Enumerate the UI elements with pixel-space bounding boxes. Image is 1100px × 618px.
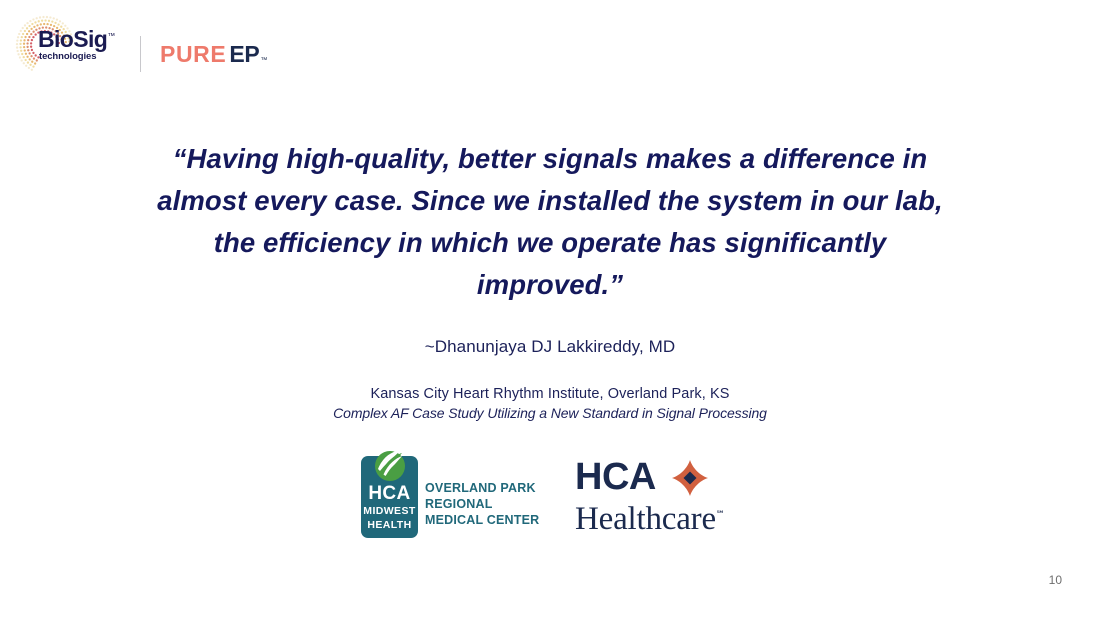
- biosig-name: BioSig™: [38, 28, 130, 51]
- overland-park-name-line: MEDICAL CENTER: [425, 512, 545, 528]
- overland-park-name-line: REGIONAL: [425, 496, 545, 512]
- pure-ep-pure-text: PURE: [160, 43, 226, 66]
- pure-ep-trademark: ™: [260, 57, 267, 64]
- attribution-case-study: Complex AF Case Study Utilizing a New St…: [110, 404, 990, 423]
- four-point-star-cross-icon: [672, 460, 708, 496]
- page-number: 10: [1049, 573, 1062, 587]
- pure-ep-logo: PURE EP™: [160, 43, 267, 69]
- biosig-logo: BioSig™ technologies: [14, 14, 126, 76]
- hca-midwest-badge: HCA MIDWEST HEALTH: [361, 456, 418, 538]
- attribution-institute: Kansas City Heart Rhythm Institute, Over…: [110, 385, 990, 404]
- hca-healthcare-service-mark: ℠: [716, 509, 725, 519]
- biosig-wordmark: BioSig™ technologies: [38, 28, 130, 62]
- hca-healthcare-letters: HCA: [575, 458, 656, 496]
- hca-midwest-hca-text: HCA: [361, 483, 418, 504]
- logo-divider: [140, 36, 141, 72]
- quote-line: the efficiency in which we operate has s…: [110, 222, 990, 264]
- quote-block: “Having high-quality, better signals mak…: [110, 138, 990, 306]
- overland-park-regional-logo: HCA MIDWEST HEALTH OVERLAND PARK REGIONA…: [355, 450, 545, 542]
- quote-line: improved.”: [110, 264, 990, 306]
- hca-midwest-health-text: HEALTH: [361, 518, 418, 532]
- leaf-icon: [371, 447, 409, 485]
- quote-line: almost every case. Since we installed th…: [110, 180, 990, 222]
- footer-logo-bar: HCA MIDWEST HEALTH OVERLAND PARK REGIONA…: [355, 450, 755, 545]
- biosig-subtitle: technologies: [39, 52, 130, 62]
- biosig-trademark: ™: [107, 31, 114, 40]
- hca-healthcare-logo: HCA Healthcare℠: [575, 458, 735, 536]
- quote-line: “Having high-quality, better signals mak…: [110, 138, 990, 180]
- header-logo-bar: BioSig™ technologies PURE EP™: [10, 14, 280, 80]
- hca-midwest-badge-text: HCA MIDWEST HEALTH: [361, 483, 418, 532]
- attribution-affiliation-block: Kansas City Heart Rhythm Institute, Over…: [110, 385, 990, 423]
- pure-ep-ep-text: EP: [229, 43, 259, 66]
- overland-park-name-line: OVERLAND PARK: [425, 480, 545, 496]
- hca-healthcare-word: Healthcare℠: [575, 497, 725, 536]
- hca-healthcare-top-row: HCA: [575, 458, 735, 498]
- attribution-name: ~Dhanunjaya DJ Lakkireddy, MD: [110, 337, 990, 357]
- hca-midwest-midwest-text: MIDWEST: [361, 504, 418, 518]
- overland-park-name-text: OVERLAND PARK REGIONAL MEDICAL CENTER: [425, 480, 545, 528]
